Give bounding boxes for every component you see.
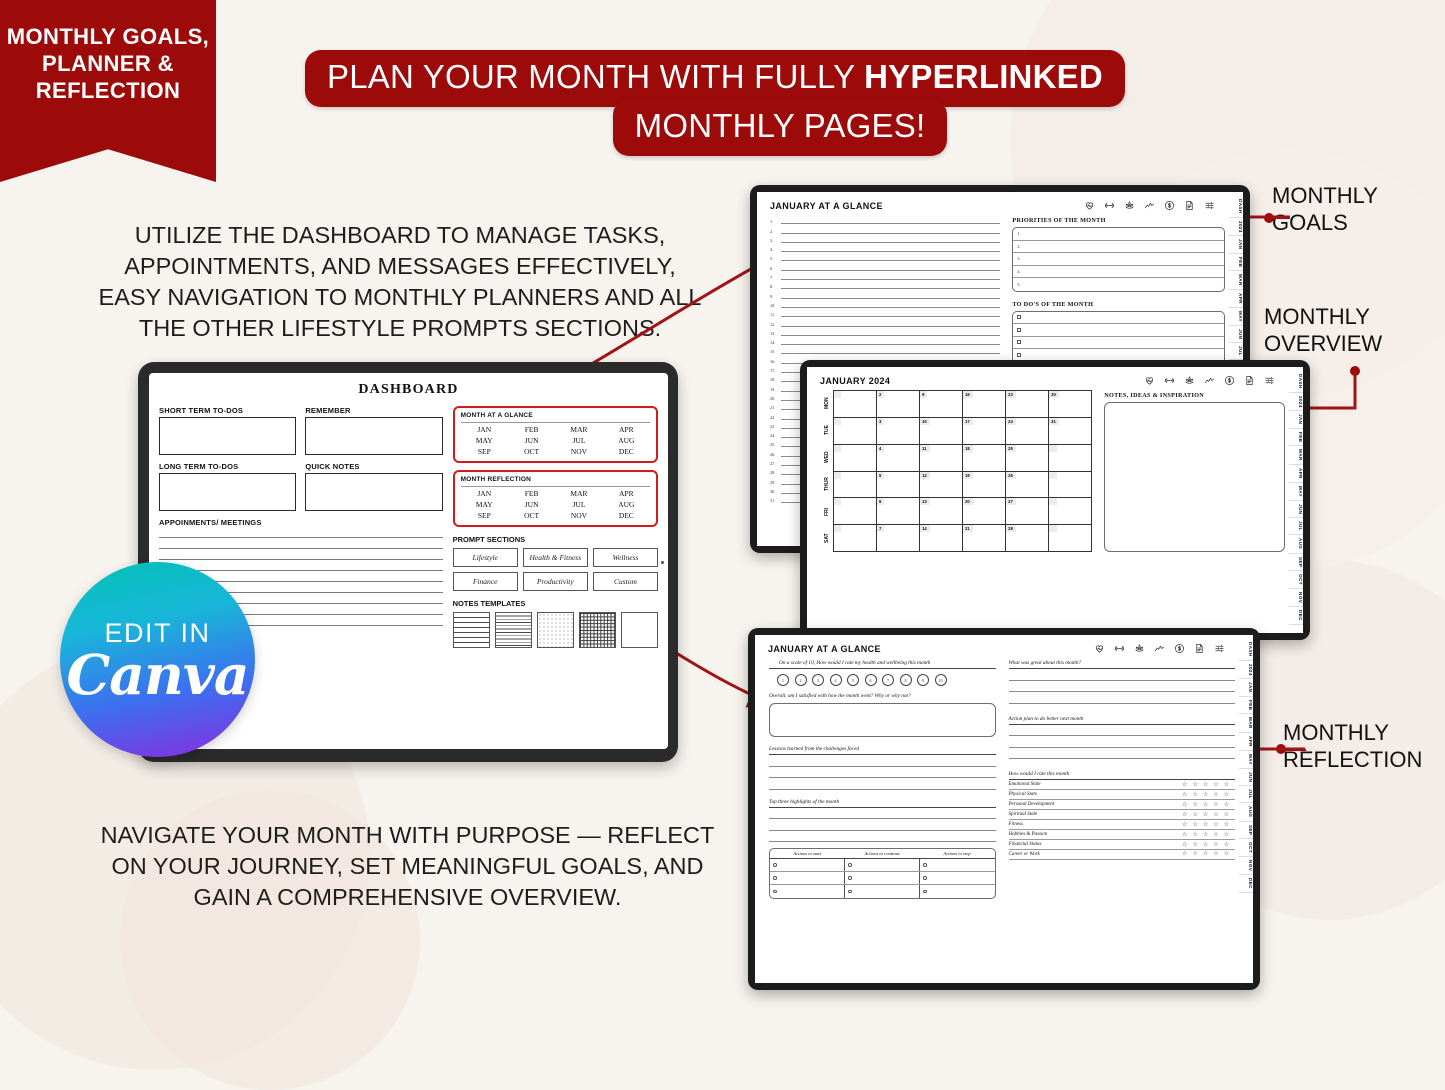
todo-row[interactable] [1013, 324, 1224, 337]
calendar-cell[interactable]: 0 [1049, 525, 1092, 552]
star-icon[interactable]: ☆ [1182, 842, 1187, 848]
scale-circle-9[interactable]: 9 [917, 674, 929, 686]
calendar-cell[interactable]: 0 [1049, 445, 1092, 472]
priorities-box[interactable]: 1.2.3.4.5. [1012, 227, 1225, 292]
month-link-jan[interactable]: JAN [461, 425, 508, 434]
rating-label: Spiritual State [1009, 812, 1038, 817]
goal-line[interactable]: 11. [770, 308, 1000, 317]
radio-icon[interactable] [773, 863, 777, 867]
todo-row[interactable] [1013, 312, 1224, 325]
rating-stars[interactable]: ☆☆☆☆☆ [1182, 782, 1229, 788]
rating-stars[interactable]: ☆☆☆☆☆ [1182, 802, 1229, 808]
rating-row[interactable]: Physical State☆☆☆☆☆ [1009, 790, 1236, 800]
calendar-cell[interactable]: 0 [834, 525, 877, 552]
block-input-area[interactable] [305, 417, 442, 455]
calendar-cell[interactable]: 24 [1006, 418, 1049, 445]
calendar-cell[interactable]: 0 [834, 498, 877, 525]
calendar-grid[interactable]: 0291623300310172431041118250051219260061… [833, 390, 1092, 552]
actions-cell[interactable] [845, 859, 920, 871]
month-reflection-grid[interactable]: JANFEBMARAPRMAYJUNJULAUGSEPOCTNOVDEC [461, 489, 650, 520]
dumbbell-icon[interactable] [1164, 375, 1175, 386]
star-icon[interactable]: ☆ [1203, 832, 1208, 838]
calendar-cell[interactable]: 4 [877, 445, 920, 472]
prompt-section-wellness[interactable]: Wellness [593, 548, 658, 567]
actions-cell[interactable] [920, 872, 994, 884]
star-icon[interactable]: ☆ [1192, 782, 1197, 788]
month-tab-mar[interactable]: MAR [1239, 714, 1253, 733]
star-icon[interactable]: ☆ [1213, 792, 1218, 798]
appointment-line[interactable] [159, 570, 443, 571]
star-icon[interactable]: ☆ [1213, 782, 1218, 788]
calendar-cell[interactable]: 0 [834, 391, 877, 418]
month-link-aug[interactable]: AUG [603, 436, 650, 445]
dollar-icon[interactable] [1174, 643, 1185, 654]
priority-row[interactable]: 5. [1013, 278, 1224, 291]
star-icon[interactable]: ☆ [1224, 782, 1229, 788]
sliders-icon[interactable] [1264, 375, 1275, 386]
dollar-icon[interactable] [1164, 200, 1175, 211]
chart-line-icon[interactable] [1204, 375, 1215, 386]
block-label: QUICK NOTES [305, 462, 442, 471]
paragraph-top: UTILIZE THE DASHBOARD TO MANAGE TASKS, A… [95, 220, 705, 344]
star-icon[interactable]: ☆ [1203, 812, 1208, 818]
todo-row[interactable] [1013, 337, 1224, 350]
rating-stars[interactable]: ☆☆☆☆☆ [1182, 792, 1229, 798]
scale-circle-8[interactable]: 8 [900, 674, 912, 686]
month-link-jul[interactable]: JUL [555, 500, 602, 509]
star-icon[interactable]: ☆ [1213, 802, 1218, 808]
scale-circle-4[interactable]: 4 [830, 674, 842, 686]
month-link-aug[interactable]: AUG [603, 500, 650, 509]
lotus-icon[interactable] [1124, 200, 1135, 211]
block-long-term-todos[interactable]: LONG TERM TO-DOS [159, 462, 296, 511]
calendar-cell[interactable]: 0 [834, 445, 877, 472]
month-tab-mar[interactable]: MAR [1229, 271, 1243, 290]
month-link-jun[interactable]: JUN [508, 500, 555, 509]
star-icon[interactable]: ☆ [1192, 842, 1197, 848]
month-tab-apr[interactable]: APR [1239, 733, 1253, 751]
notes-template-dotted[interactable] [537, 612, 574, 648]
star-icon[interactable]: ☆ [1203, 822, 1208, 828]
star-icon[interactable]: ☆ [1203, 782, 1208, 788]
reflection-sheet[interactable]: JANUARY AT A GLANCE On a scale of 10, Ho… [755, 635, 1253, 983]
actions-row[interactable] [770, 872, 995, 885]
actions-cell[interactable] [845, 885, 920, 898]
radio-icon[interactable] [923, 876, 927, 880]
month-tab-apr[interactable]: APR [1229, 290, 1243, 308]
goal-line[interactable]: 5. [770, 252, 1000, 261]
prompt-section-finance[interactable]: Finance [453, 572, 518, 591]
month-at-a-glance-card[interactable]: MONTH AT A GLANCE JANFEBMARAPRMAYJUNJULA… [453, 406, 658, 463]
calendar-cell[interactable]: 0 [1049, 472, 1092, 499]
month-tab-nov[interactable]: NOV [1289, 589, 1303, 607]
star-icon[interactable]: ☆ [1203, 792, 1208, 798]
prompt-section-custom[interactable]: Custom [593, 572, 658, 591]
star-icon[interactable]: ☆ [1182, 782, 1187, 788]
appointment-line[interactable] [159, 537, 443, 538]
calendar-cell[interactable]: 30 [1049, 391, 1092, 418]
sliders-icon[interactable] [1214, 643, 1225, 654]
star-icon[interactable]: ☆ [1192, 802, 1197, 808]
calendar-day-wed: WED [821, 444, 833, 471]
calendar-cell[interactable]: 12 [920, 472, 963, 499]
actions-row[interactable] [770, 885, 995, 898]
star-icon[interactable]: ☆ [1213, 832, 1218, 838]
radio-icon[interactable] [848, 890, 852, 894]
satisfied-answer-box[interactable] [769, 703, 996, 737]
rating-stars[interactable]: ☆☆☆☆☆ [1182, 851, 1229, 857]
block-remember[interactable]: REMEMBER [305, 406, 442, 455]
month-tab-jun[interactable]: JUN [1289, 501, 1303, 518]
toolbar-icons[interactable] [1094, 643, 1225, 654]
lotus-icon[interactable] [1184, 375, 1195, 386]
star-icon[interactable]: ☆ [1182, 792, 1187, 798]
month-tab-may[interactable]: MAY [1289, 483, 1303, 501]
heart-pulse-icon[interactable] [1144, 375, 1155, 386]
notes-templates-title: NOTES TEMPLATES [453, 599, 658, 608]
month-link-oct[interactable]: OCT [508, 447, 555, 456]
document-icon[interactable] [1184, 200, 1195, 211]
star-icon[interactable]: ☆ [1182, 832, 1187, 838]
dashboard-right-column: MONTH AT A GLANCE JANFEBMARAPRMAYJUNJULA… [453, 406, 658, 648]
rating-row[interactable]: Personal Development☆☆☆☆☆ [1009, 800, 1236, 810]
calendar-cell[interactable]: 25 [1006, 445, 1049, 472]
heart-pulse-icon[interactable] [1094, 643, 1105, 654]
goal-line[interactable]: 7. [770, 271, 1000, 280]
lotus-icon[interactable] [1134, 643, 1145, 654]
dumbbell-icon[interactable] [1114, 643, 1125, 654]
month-link-apr[interactable]: APR [603, 489, 650, 498]
calendar-day-sat: SAT [821, 525, 833, 552]
calendar-cell[interactable]: 13 [920, 498, 963, 525]
month-link-sep[interactable]: SEP [461, 511, 508, 520]
month-tab-2024[interactable]: 2024 [1229, 218, 1243, 237]
star-icon[interactable]: ☆ [1203, 851, 1208, 857]
document-icon[interactable] [1194, 643, 1205, 654]
appointments-label: APPOINMENTS/ MEETINGS [159, 518, 443, 527]
month-link-jun[interactable]: JUN [508, 436, 555, 445]
prompt-sections-grid[interactable]: LifestyleHealth & FitnessWellnessFinance… [453, 548, 658, 591]
month-link-feb[interactable]: FEB [508, 489, 555, 498]
month-tab-may[interactable]: MAY [1229, 308, 1243, 326]
block-label: LONG TERM TO-DOS [159, 462, 296, 471]
notes-template-blank[interactable] [621, 612, 658, 648]
calendar-cell[interactable]: 6 [877, 498, 920, 525]
goal-line[interactable]: 12. [770, 317, 1000, 326]
dumbbell-icon[interactable] [1104, 200, 1115, 211]
notes-ideas-title: NOTES, IDEAS & INSPIRATION [1104, 392, 1285, 399]
scale-circle-6[interactable]: 6 [865, 674, 877, 686]
calendar-cell[interactable]: 28 [1006, 525, 1049, 552]
month-link-nov[interactable]: NOV [555, 447, 602, 456]
star-icon[interactable]: ☆ [1192, 792, 1197, 798]
month-link-nov[interactable]: NOV [555, 511, 602, 520]
satisfied-question: Overall, am I satisfied with how the mon… [769, 693, 996, 699]
appointment-line[interactable] [159, 548, 443, 549]
radio-icon[interactable] [773, 876, 777, 880]
star-icon[interactable]: ☆ [1192, 812, 1197, 818]
month-link-may[interactable]: MAY [461, 436, 508, 445]
star-icon[interactable]: ☆ [1213, 822, 1218, 828]
scale-circle-5[interactable]: 5 [847, 674, 859, 686]
calendar-cell[interactable]: 9 [920, 391, 963, 418]
heart-pulse-icon[interactable] [1084, 200, 1095, 211]
checkbox-icon[interactable] [1017, 340, 1021, 344]
corner-banner: MONTHLY GOALS, PLANNER & REFLECTION [0, 0, 216, 182]
radio-icon[interactable] [848, 863, 852, 867]
calendar-cell[interactable]: 2 [877, 391, 920, 418]
prompt-section-health-fitness[interactable]: Health & Fitness [523, 548, 588, 567]
calendar-cell[interactable]: 21 [963, 525, 1006, 552]
month-link-apr[interactable]: APR [603, 425, 650, 434]
notes-ideas-box[interactable] [1104, 402, 1285, 552]
goal-line[interactable]: 8. [770, 280, 1000, 289]
rating-row[interactable]: Spiritual State☆☆☆☆☆ [1009, 810, 1236, 820]
month-tab-2024[interactable]: 2024 [1289, 393, 1303, 412]
checkbox-icon[interactable] [1017, 353, 1021, 357]
month-tab-dash[interactable]: DASH [1239, 639, 1253, 661]
scale-circle-3[interactable]: 3 [812, 674, 824, 686]
star-icon[interactable]: ☆ [1224, 851, 1229, 857]
sliders-icon[interactable] [1204, 200, 1215, 211]
radio-icon[interactable] [848, 876, 852, 880]
month-tab-jul[interactable]: JUL [1239, 786, 1253, 803]
month-link-oct[interactable]: OCT [508, 511, 555, 520]
calendar-cell[interactable]: 5 [877, 472, 920, 499]
goal-line[interactable]: 3. [770, 234, 1000, 243]
rating-row[interactable]: Hobbies & Passion☆☆☆☆☆ [1009, 830, 1236, 840]
goal-line[interactable]: 14. [770, 336, 1000, 345]
star-icon[interactable]: ☆ [1224, 812, 1229, 818]
month-tab-jan[interactable]: JAN [1229, 236, 1243, 253]
block-input-area[interactable] [305, 473, 442, 511]
month-tab-sep[interactable]: SEP [1289, 554, 1303, 571]
calendar-cell[interactable]: 20 [963, 498, 1006, 525]
star-icon[interactable]: ☆ [1182, 822, 1187, 828]
calendar-cell[interactable]: 23 [1006, 391, 1049, 418]
month-tab-dash[interactable]: DASH [1229, 196, 1243, 218]
star-icon[interactable]: ☆ [1213, 851, 1218, 857]
star-icon[interactable]: ☆ [1192, 822, 1197, 828]
checkbox-icon[interactable] [1017, 328, 1021, 332]
overview-sheet[interactable]: JANUARY 2024 MONTUEWEDTHURFRISAT 0291623… [807, 367, 1303, 633]
radio-icon[interactable] [773, 890, 777, 894]
actions-cell[interactable] [845, 872, 920, 884]
radio-icon[interactable] [923, 890, 927, 894]
month-tab-apr[interactable]: APR [1289, 465, 1303, 483]
document-icon[interactable] [1244, 375, 1255, 386]
goal-line[interactable]: 1. [770, 215, 1000, 224]
radio-icon[interactable] [923, 863, 927, 867]
month-tab-jun[interactable]: JUN [1229, 326, 1243, 343]
month-link-mar[interactable]: MAR [555, 425, 602, 434]
priority-row[interactable]: 1. [1013, 228, 1224, 241]
leader-dot-overview [1350, 366, 1360, 376]
month-link-dec[interactable]: DEC [603, 447, 650, 456]
block-input-area[interactable] [159, 473, 296, 511]
actions-table[interactable]: Actions to startActions to continueActio… [769, 848, 996, 899]
month-tab-strip[interactable]: DASH2024JANFEBMARAPRMAYJUNJULAUGSEPOCTNO… [1239, 635, 1253, 983]
toolbar-icons[interactable] [1144, 375, 1275, 386]
month-tab-may[interactable]: MAY [1239, 751, 1253, 769]
month-tab-jul[interactable]: JUL [1229, 343, 1243, 360]
month-tab-jun[interactable]: JUN [1239, 769, 1253, 786]
star-icon[interactable]: ☆ [1224, 792, 1229, 798]
goal-line[interactable]: 2. [770, 224, 1000, 233]
month-tab-jul[interactable]: JUL [1289, 518, 1303, 535]
month-link-dec[interactable]: DEC [603, 511, 650, 520]
chart-line-icon[interactable] [1144, 200, 1155, 211]
goal-line[interactable]: 13. [770, 327, 1000, 336]
month-tab-dec[interactable]: DEC [1289, 607, 1303, 625]
month-tab-feb[interactable]: FEB [1289, 429, 1303, 446]
calendar-cell[interactable]: 11 [920, 445, 963, 472]
great-question: What was great about this month? [1009, 660, 1236, 666]
block-short-term-todos[interactable]: SHORT TERM TO-DOS [159, 406, 296, 455]
star-icon[interactable]: ☆ [1224, 842, 1229, 848]
goal-line[interactable]: 10. [770, 299, 1000, 308]
month-tab-mar[interactable]: MAR [1289, 446, 1303, 465]
rating-row[interactable]: Career or Work☆☆☆☆☆ [1009, 850, 1236, 860]
star-icon[interactable]: ☆ [1213, 812, 1218, 818]
rating-stars[interactable]: ☆☆☆☆☆ [1182, 822, 1229, 828]
star-icon[interactable]: ☆ [1224, 802, 1229, 808]
scale-circles[interactable]: 12345678910 [777, 674, 996, 686]
scale-circle-2[interactable]: 2 [795, 674, 807, 686]
month-link-jan[interactable]: JAN [461, 489, 508, 498]
goal-line[interactable]: 4. [770, 243, 1000, 252]
rating-row[interactable]: Fitness☆☆☆☆☆ [1009, 820, 1236, 830]
calendar-cell[interactable]: 19 [963, 472, 1006, 499]
star-icon[interactable]: ☆ [1192, 832, 1197, 838]
priority-row[interactable]: 4. [1013, 266, 1224, 279]
calendar-cell[interactable]: 26 [1006, 472, 1049, 499]
scale-circle-7[interactable]: 7 [882, 674, 894, 686]
star-icon[interactable]: ☆ [1203, 842, 1208, 848]
corner-banner-text: MONTHLY GOALS, PLANNER & REFLECTION [0, 24, 216, 104]
month-tab-dash[interactable]: DASH [1289, 371, 1303, 393]
edit-in-canva-badge[interactable]: EDIT IN Canva [60, 562, 255, 757]
block-input-area[interactable] [159, 417, 296, 455]
calendar-cell[interactable]: 16 [963, 391, 1006, 418]
priority-row[interactable]: 3. [1013, 253, 1224, 266]
month-reflection-card[interactable]: MONTH REFLECTION JANFEBMARAPRMAYJUNJULAU… [453, 470, 658, 527]
star-icon[interactable]: ☆ [1213, 842, 1218, 848]
star-icon[interactable]: ☆ [1182, 802, 1187, 808]
month-tab-aug[interactable]: AUG [1239, 803, 1253, 821]
calendar-cell[interactable]: 31 [1049, 418, 1092, 445]
calendar-cell[interactable]: 27 [1006, 498, 1049, 525]
calendar-cell[interactable]: 7 [877, 525, 920, 552]
dollar-icon[interactable] [1224, 375, 1235, 386]
actions-table-rows[interactable] [770, 859, 995, 898]
appointment-line[interactable] [159, 559, 443, 560]
calendar-cell[interactable]: 18 [963, 445, 1006, 472]
month-link-mar[interactable]: MAR [555, 489, 602, 498]
prompt-section-productivity[interactable]: Productivity [523, 572, 588, 591]
actions-cell[interactable] [770, 872, 845, 884]
rating-stars[interactable]: ☆☆☆☆☆ [1182, 812, 1229, 818]
month-tab-aug[interactable]: AUG [1289, 535, 1303, 553]
calendar-cell[interactable]: 0 [1049, 498, 1092, 525]
actions-cell[interactable] [920, 859, 994, 871]
star-icon[interactable]: ☆ [1182, 812, 1187, 818]
notes-templates-grid[interactable] [453, 612, 658, 648]
month-link-may[interactable]: MAY [461, 500, 508, 509]
month-tab-feb[interactable]: FEB [1229, 254, 1243, 271]
rating-stars[interactable]: ☆☆☆☆☆ [1182, 832, 1229, 838]
actions-table-header: Actions to startActions to continueActio… [770, 849, 995, 859]
block-quick-notes[interactable]: QUICK NOTES [305, 462, 442, 511]
scale-circle-1[interactable]: 1 [777, 674, 789, 686]
month-tab-strip[interactable]: DASH2024JANFEBMARAPRMAYJUNJULAUGSEPOCTNO… [1289, 367, 1303, 633]
callout-monthly-reflection: MONTHLY REFLECTION [1283, 719, 1445, 774]
checkbox-icon[interactable] [1017, 315, 1021, 319]
month-link-jul[interactable]: JUL [555, 436, 602, 445]
priority-row[interactable]: 2. [1013, 241, 1224, 254]
month-tab-nov[interactable]: NOV [1239, 857, 1253, 875]
star-icon[interactable]: ☆ [1224, 832, 1229, 838]
actions-cell[interactable] [920, 885, 994, 898]
rating-label: Hobbies & Passion [1009, 832, 1048, 837]
month-link-sep[interactable]: SEP [461, 447, 508, 456]
calendar-cell[interactable]: 10 [920, 418, 963, 445]
rating-label: Career or Work [1009, 852, 1040, 857]
month-link-feb[interactable]: FEB [508, 425, 555, 434]
scale-circle-10[interactable]: 10 [935, 674, 947, 686]
actions-row[interactable] [770, 859, 995, 872]
star-icon[interactable]: ☆ [1203, 802, 1208, 808]
goal-line[interactable]: 9. [770, 289, 1000, 298]
rating-row[interactable]: Emotional State☆☆☆☆☆ [1009, 780, 1236, 790]
rating-label: Financial Status [1009, 842, 1042, 847]
notes-template-wide-lined[interactable] [453, 612, 490, 648]
goal-line[interactable]: 15. [770, 345, 1000, 354]
page-monthly-overview: JANUARY 2024 MONTUEWEDTHURFRISAT 0291623… [800, 360, 1310, 640]
star-icon[interactable]: ☆ [1182, 851, 1187, 857]
month-tab-sep[interactable]: SEP [1239, 822, 1253, 839]
star-icon[interactable]: ☆ [1192, 851, 1197, 857]
month-tab-feb[interactable]: FEB [1239, 697, 1253, 714]
actions-cell[interactable] [770, 859, 845, 871]
reflection-right-column: What was great about this month? Action … [1009, 660, 1236, 899]
calendar-cell[interactable]: 0 [834, 418, 877, 445]
rating-stars[interactable]: ☆☆☆☆☆ [1182, 842, 1229, 848]
month-at-a-glance-grid[interactable]: JANFEBMARAPRMAYJUNJULAUGSEPOCTNOVDEC [461, 425, 650, 456]
calendar-cell[interactable]: 14 [920, 525, 963, 552]
rating-row[interactable]: Financial Status☆☆☆☆☆ [1009, 840, 1236, 850]
notes-template-grid[interactable] [579, 612, 616, 648]
calendar-cell[interactable]: 17 [963, 418, 1006, 445]
month-tab-oct[interactable]: OCT [1239, 839, 1253, 857]
toolbar-icons[interactable] [1084, 200, 1215, 211]
star-icon[interactable]: ☆ [1224, 822, 1229, 828]
month-tab-2024[interactable]: 2024 [1239, 661, 1253, 680]
month-tab-dec[interactable]: DEC [1239, 875, 1253, 893]
notes-template-narrow-lined[interactable] [495, 612, 532, 648]
chart-line-icon[interactable] [1154, 643, 1165, 654]
actions-cell[interactable] [770, 885, 845, 898]
month-tab-jan[interactable]: JAN [1239, 679, 1253, 696]
month-tab-oct[interactable]: OCT [1289, 571, 1303, 589]
rating-rows[interactable]: Emotional State☆☆☆☆☆Physical State☆☆☆☆☆P… [1009, 780, 1236, 860]
block-label: SHORT TERM TO-DOS [159, 406, 296, 415]
prompt-section-lifestyle[interactable]: Lifestyle [453, 548, 518, 567]
calendar-cell[interactable]: 0 [834, 472, 877, 499]
month-tab-jan[interactable]: JAN [1289, 411, 1303, 428]
goal-line[interactable]: 6. [770, 261, 1000, 270]
calendar-cell[interactable]: 3 [877, 418, 920, 445]
